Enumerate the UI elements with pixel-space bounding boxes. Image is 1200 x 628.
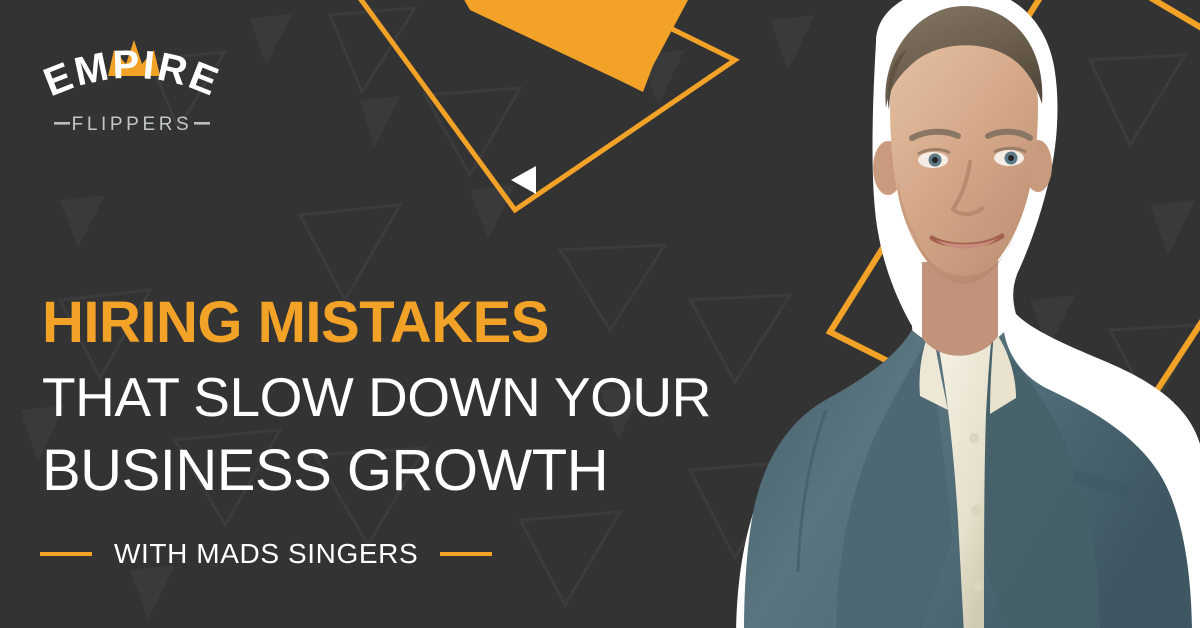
logo-subwordmark-row: FLIPPERS	[54, 114, 210, 135]
guest-credit-row: WITH MADS SINGERS	[40, 538, 492, 570]
title-block: HIRING MISTAKES THAT SLOW DOWN YOUR BUSI…	[42, 286, 682, 508]
guest-rule-left	[40, 552, 92, 556]
logo-subwordmark: FLIPPERS	[72, 114, 193, 135]
title-line-2: THAT SLOW DOWN YOUR	[42, 360, 682, 434]
empire-flippers-logo[interactable]: EMPIRE FLIPPERS	[22, 28, 242, 143]
title-line-1: HIRING MISTAKES	[42, 286, 682, 360]
guest-rule-right	[440, 552, 492, 556]
guest-portrait	[640, 0, 1200, 628]
play-triangle-icon	[511, 166, 536, 194]
guest-name-label: WITH MADS SINGERS	[114, 538, 418, 570]
podcast-cover-canvas: EMPIRE FLIPPERS HIRING MISTAKES THAT SLO…	[0, 0, 1200, 628]
title-line-3: BUSINESS GROWTH	[42, 434, 682, 508]
logo-wordmark: EMPIRE	[38, 43, 227, 105]
